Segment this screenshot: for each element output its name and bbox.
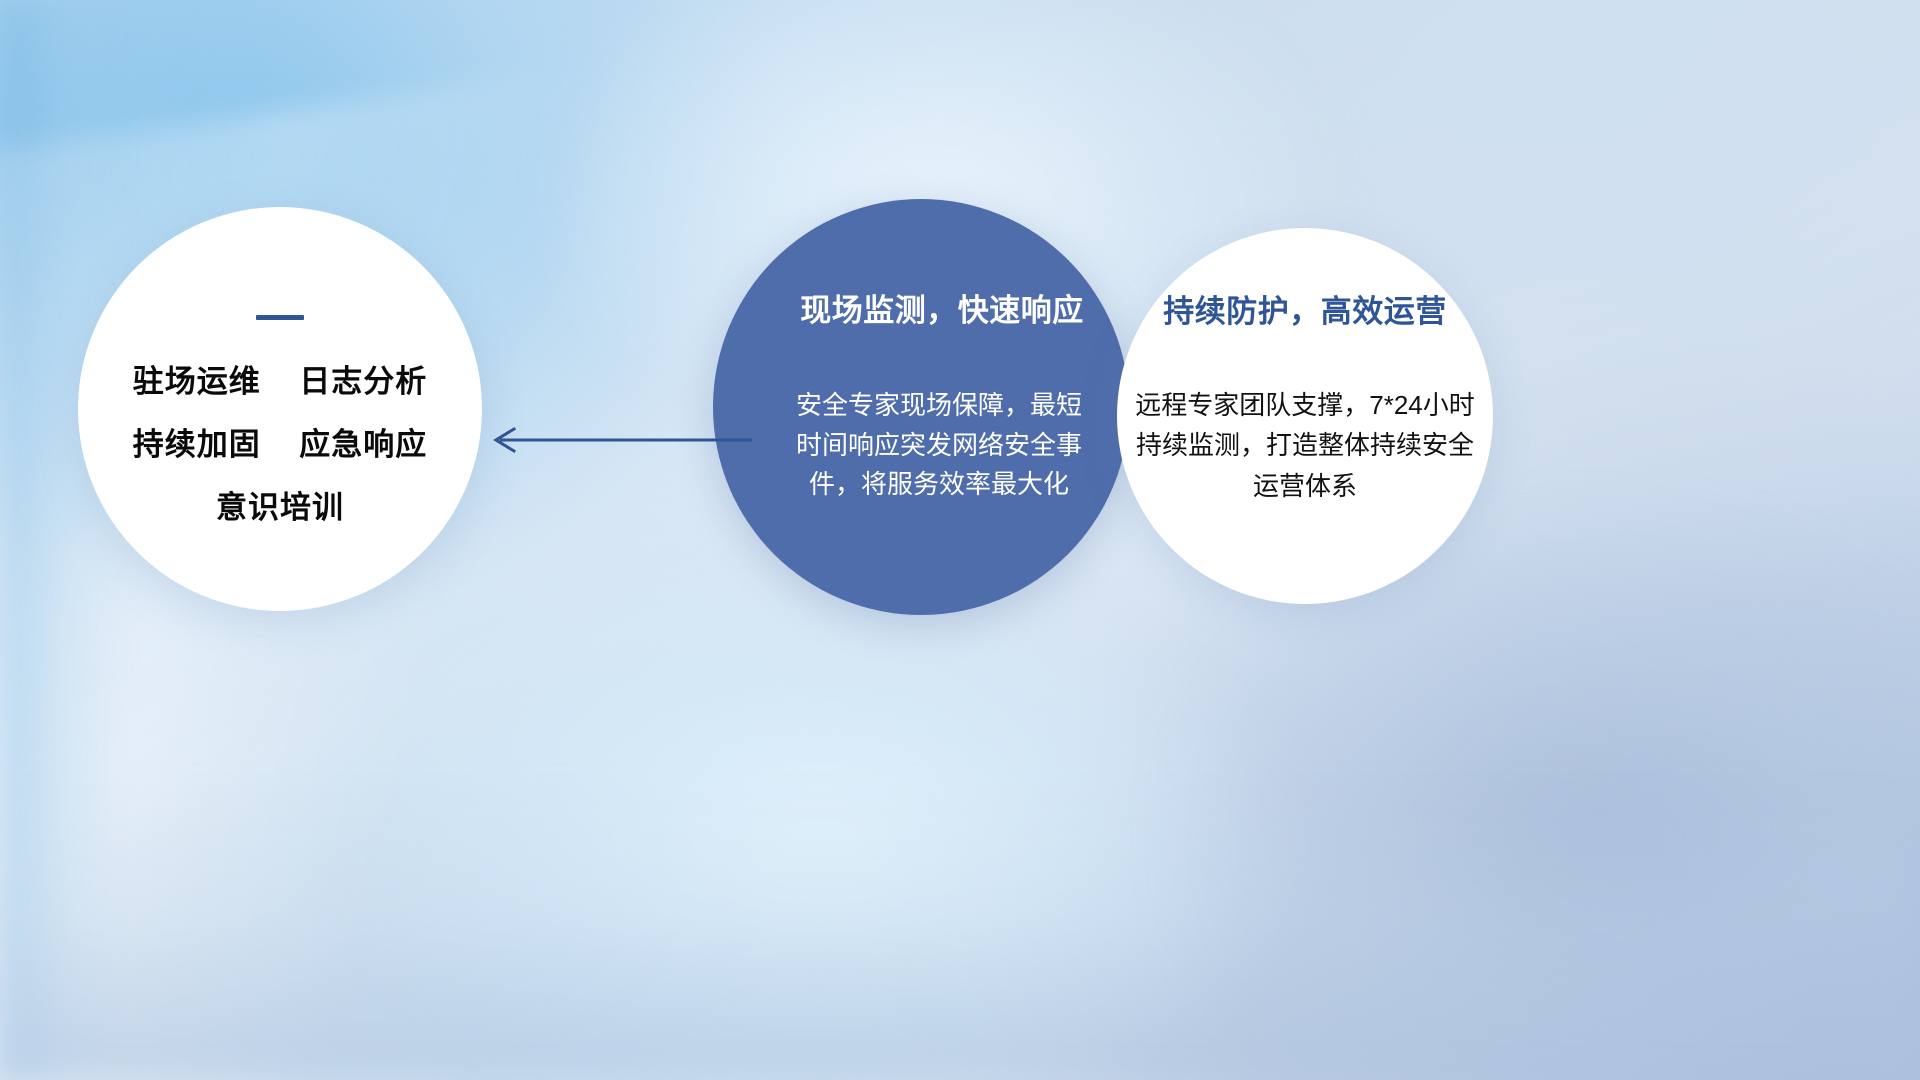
right-card[interactable]: 持续防护，高效运营 远程专家团队支撑，7*24小时持续监测，打造整体持续安全运营… [1117, 228, 1493, 604]
slide-canvas: 现场监测，快速响应 安全专家现场保障，最短时间响应突发网络安全事件，将服务效率最… [0, 0, 1920, 1080]
left-card-line-3: 意识培训 [216, 492, 344, 523]
left-card[interactable]: 驻场运维 日志分析 持续加固 应急响应 意识培训 [78, 207, 482, 611]
background-bottom-haze [0, 780, 1920, 1080]
middle-card-title: 现场监测，快速响应 [800, 295, 1084, 326]
right-card-body: 远程专家团队支撑，7*24小时持续监测，打造整体持续安全运营体系 [1127, 385, 1483, 506]
middle-card[interactable]: 现场监测，快速响应 安全专家现场保障，最短时间响应突发网络安全事件，将服务效率最… [713, 199, 1129, 615]
left-card-line-2: 持续加固 应急响应 [133, 429, 427, 460]
left-card-line-1: 驻场运维 日志分析 [133, 366, 427, 397]
left-card-divider [256, 315, 304, 320]
middle-card-body: 安全专家现场保障，最短时间响应突发网络安全事件，将服务效率最大化 [794, 386, 1084, 505]
right-card-title: 持续防护，高效运营 [1163, 296, 1447, 327]
